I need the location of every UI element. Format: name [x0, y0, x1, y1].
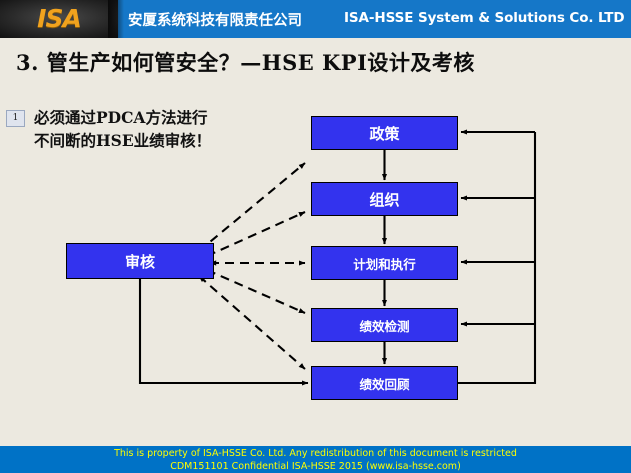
link-audit-review	[199, 276, 305, 369]
bullet-number-badge: 1	[6, 110, 25, 127]
slide-header: ISA 安厦系统科技有限责任公司 ISA-HSSE System & Solut…	[0, 0, 631, 38]
link-audit-org	[207, 212, 305, 256]
logo-gradient-edge	[108, 0, 124, 38]
footer-line-1: This is property of ISA-HSSE Co. Ltd. An…	[0, 447, 631, 460]
flow-node-audit[interactable]: 审核	[66, 243, 214, 279]
page-title: 3. 管生产如何管安全？—HSE KPI设计及考核	[16, 47, 475, 77]
presentation-slide: ISA 安厦系统科技有限责任公司 ISA-HSSE System & Solut…	[0, 0, 631, 473]
bullet-text: 必须通过PDCA方法进行 不间断的HSE业绩审核！	[34, 106, 211, 152]
link-audit-policy	[199, 163, 305, 251]
company-name-chinese: 安厦系统科技有限责任公司	[128, 9, 302, 30]
footer-line-2: CDM151101 Confidential ISA-HSSE 2015 (ww…	[0, 460, 631, 473]
slide-footer: This is property of ISA-HSSE Co. Ltd. An…	[0, 446, 631, 473]
flow-node-performance-review[interactable]: 绩效回顾	[311, 366, 458, 400]
isa-logo-icon: ISA	[0, 0, 118, 38]
link-audit-monitor	[207, 270, 305, 313]
flow-node-plan-execute[interactable]: 计划和执行	[311, 246, 458, 280]
flow-node-policy[interactable]: 政策	[311, 116, 458, 150]
flow-node-organization[interactable]: 组织	[311, 182, 458, 216]
flow-node-performance-monitoring[interactable]: 绩效检测	[311, 308, 458, 342]
company-name-english: ISA-HSSE System & Solutions Co. LTD	[344, 10, 625, 26]
connector-audit-review-solid	[140, 279, 308, 383]
feedback-bus-spine	[458, 132, 535, 383]
